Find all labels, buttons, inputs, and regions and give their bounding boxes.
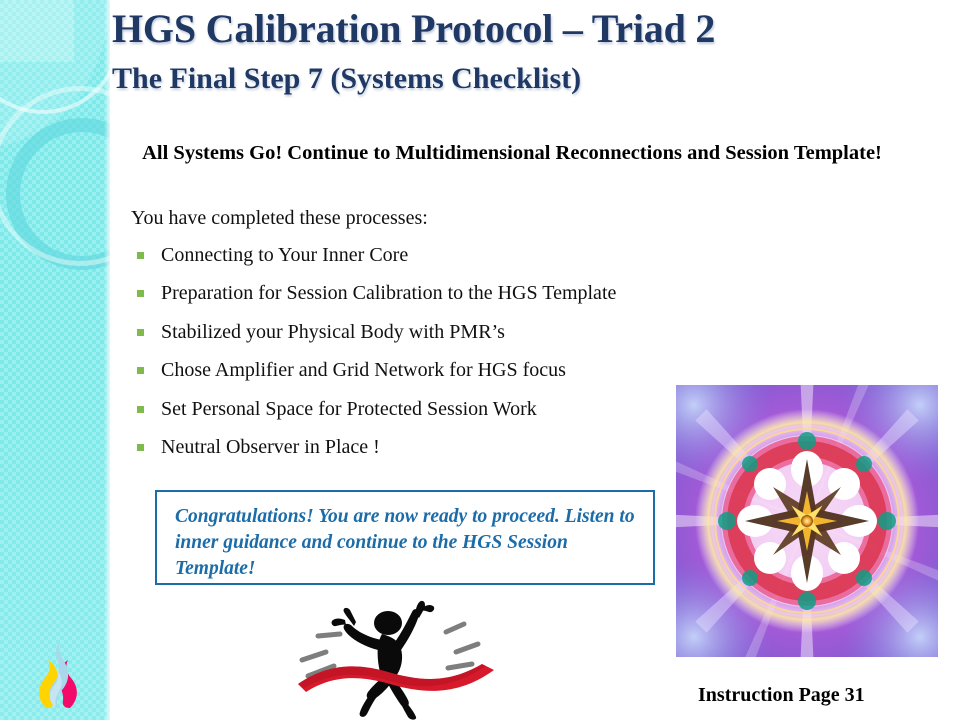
list-item: Stabilized your Physical Body with PMR’s [131, 321, 691, 343]
bullet-marker-icon [137, 290, 144, 297]
footer-page-label: Instruction Page 31 [698, 684, 865, 707]
list-item: Chose Amplifier and Grid Network for HGS… [131, 359, 691, 381]
intro-text: You have completed these processes: [131, 207, 428, 230]
congratulations-callout-box: Congratulations! You are now ready to pr… [155, 490, 655, 585]
page-title: HGS Calibration Protocol – Triad 2 [112, 8, 942, 50]
list-item: Connecting to Your Inner Core [131, 244, 691, 266]
list-item-label: Chose Amplifier and Grid Network for HGS… [161, 359, 566, 381]
callout-text: Congratulations! You are now ready to pr… [157, 492, 653, 582]
list-item-label: Connecting to Your Inner Core [161, 244, 408, 266]
sidebar-circle-outline-2 [0, 86, 110, 266]
list-item: Neutral Observer in Place ! [131, 436, 691, 458]
sidebar-edge-highlight [104, 0, 110, 720]
flame-logo-icon [26, 636, 88, 712]
bullet-marker-icon [137, 444, 144, 451]
fractal-mandala-image [676, 385, 938, 657]
checklist: Connecting to Your Inner Core Preparatio… [131, 244, 691, 474]
bullet-marker-icon [137, 252, 144, 259]
list-item-label: Stabilized your Physical Body with PMR’s [161, 321, 505, 343]
list-item: Set Personal Space for Protected Session… [131, 398, 691, 420]
page-subtitle: The Final Step 7 (Systems Checklist) [112, 62, 942, 95]
slide-canvas: HGS Calibration Protocol – Triad 2 The F… [0, 0, 960, 720]
list-item: Preparation for Session Calibration to t… [131, 282, 691, 304]
runner-finish-line-clipart [296, 600, 506, 720]
list-item-label: Preparation for Session Calibration to t… [161, 282, 616, 304]
bullet-marker-icon [137, 329, 144, 336]
bullet-marker-icon [137, 406, 144, 413]
bullet-marker-icon [137, 367, 144, 374]
decorative-sidebar [0, 0, 110, 720]
headline-text: All Systems Go! Continue to Multidimensi… [132, 140, 892, 167]
list-item-label: Neutral Observer in Place ! [161, 436, 380, 458]
list-item-label: Set Personal Space for Protected Session… [161, 398, 537, 420]
